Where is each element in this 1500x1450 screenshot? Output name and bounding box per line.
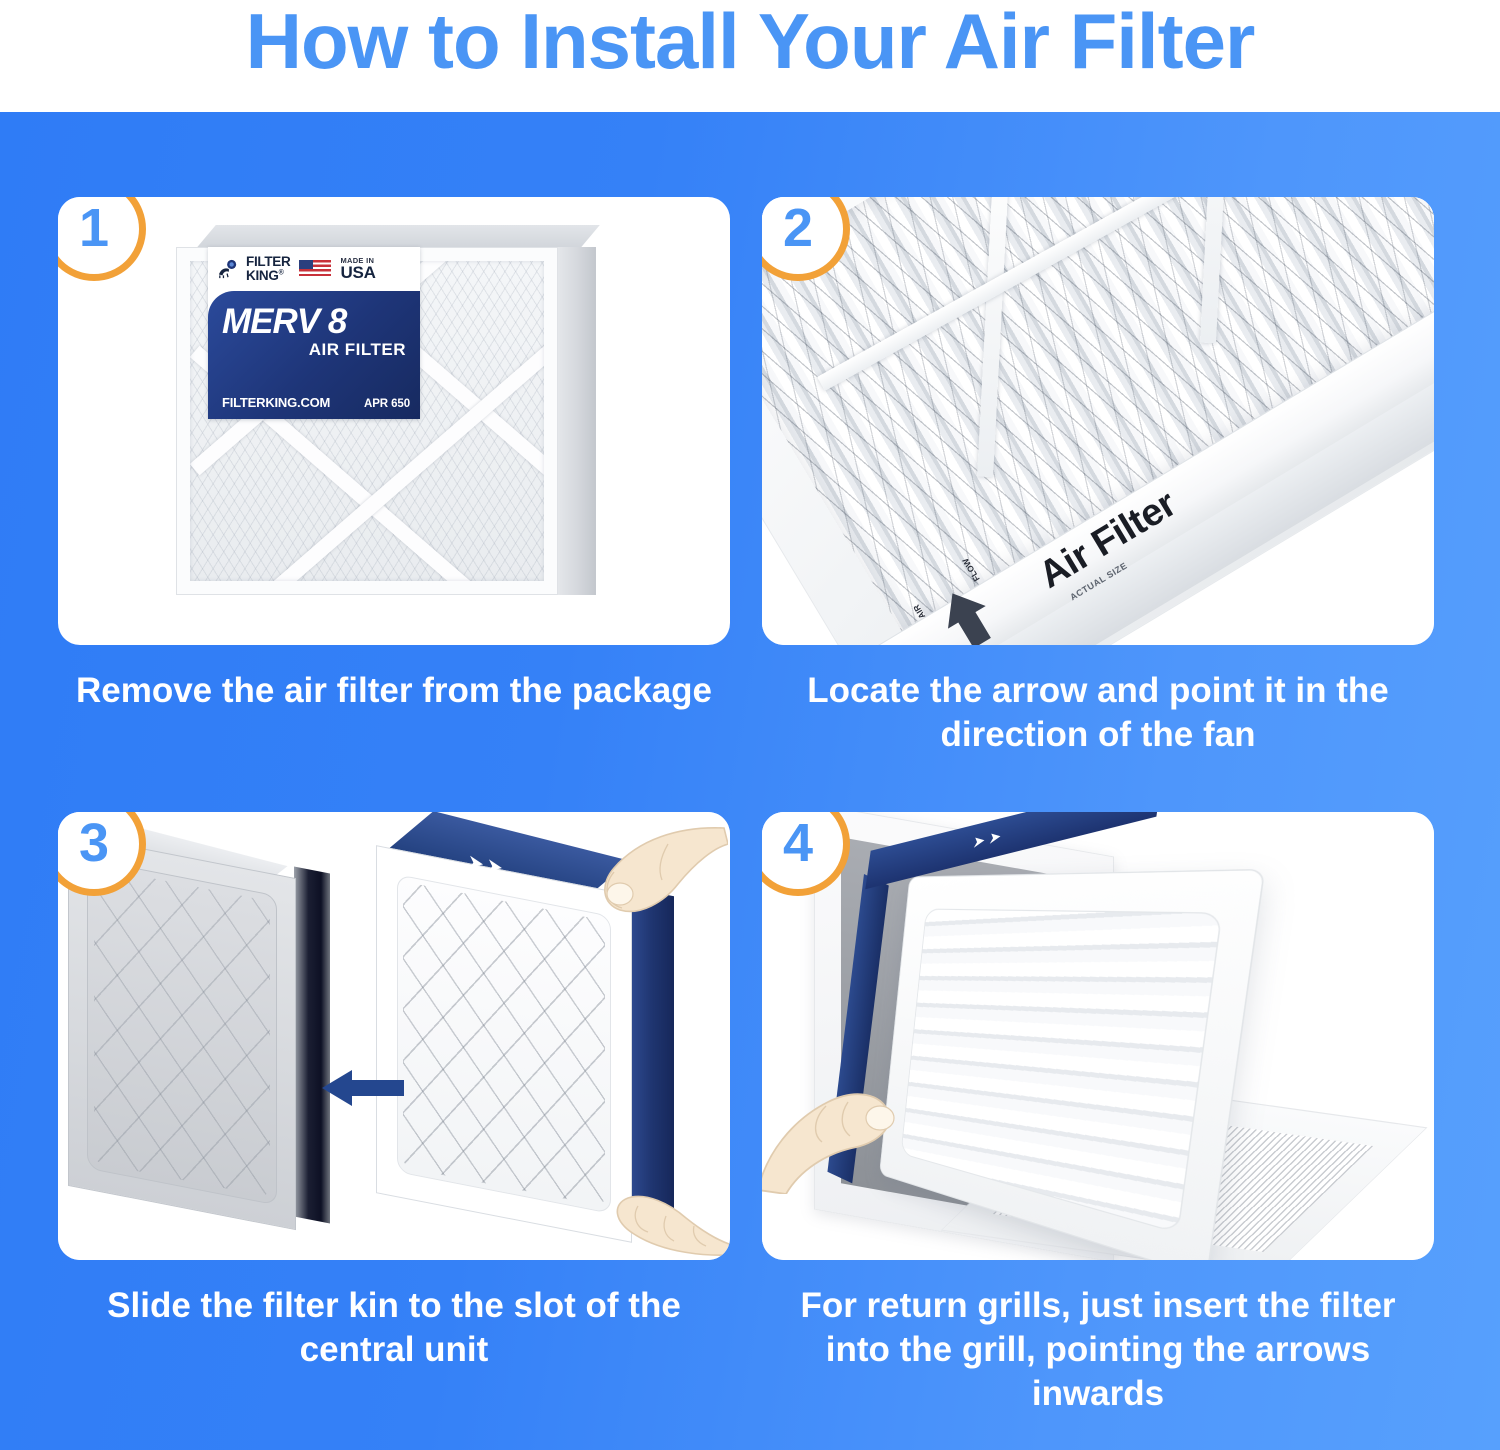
hand-icon [762,1044,974,1194]
usa-flag-icon [299,260,331,278]
step-number-1: 1 [79,201,109,255]
page-title: How to Install Your Air Filter [246,0,1255,80]
step-number-2: 2 [783,201,813,255]
step-2-caption: Locate the arrow and point it in the dir… [762,669,1434,757]
up-arrow-icon [932,580,1003,645]
step-4: ➤➤ 4 For return grills, just insert the … [762,812,1434,1415]
step-2: AIR FLOW Air Filter ACTUAL SIZE 2 Locate… [762,197,1434,757]
step-3-caption: Slide the filter kin to the slot of the … [58,1284,730,1372]
product-type: AIR FILTER [222,340,408,360]
step-4-illustration: ➤➤ [762,812,1434,1260]
step-2-illustration: AIR FLOW Air Filter ACTUAL SIZE [762,197,1434,645]
unit-inner-panel [87,859,277,1206]
hand-bottom-icon [566,1142,730,1260]
brand-website: FILTERKING.COM [222,395,330,410]
label-header-row: FILTER KING® MADE IN USA [208,247,420,291]
step-number-4: 4 [783,816,813,870]
made-in-usa: MADE IN USA [340,257,375,282]
unit-dark-slot [294,867,330,1224]
step-4-card: ➤➤ 4 [762,812,1434,1260]
unit-mesh-pattern [94,867,270,1197]
title-band: How to Install Your Air Filter [0,0,1500,112]
step-1-card: FILTER KING® MADE IN USA MERV 8 AIR F [58,197,730,645]
filter-side-depth [552,247,596,595]
apr-rating: APR 650 [364,398,410,410]
step-number-3: 3 [79,816,109,870]
slide-direction-arrow-icon [322,1068,404,1108]
brand-name: FILTER KING® [246,255,290,283]
step-4-caption: For return grills, just insert the filte… [762,1284,1434,1415]
filter-arrow-markings-icon: ➤➤ [972,825,1007,852]
step-3-illustration: ➤➤ [58,812,730,1260]
merv-rating: MERV 8 [222,305,408,338]
step-1: FILTER KING® MADE IN USA MERV 8 AIR F [58,197,730,713]
air-filter-corner-photo: AIR FLOW Air Filter ACTUAL SIZE [762,197,1434,645]
infographic-page: How to Install Your Air Filter [0,0,1500,1450]
label-blue-panel: MERV 8 AIR FILTER FILTERKING.COM APR 650 [208,291,420,419]
product-label: FILTER KING® MADE IN USA MERV 8 AIR F [208,247,420,419]
step-3: ➤➤ [58,812,730,1372]
hand-top-icon [528,824,728,950]
lion-icon [217,259,239,279]
air-filter-product: FILTER KING® MADE IN USA MERV 8 AIR F [176,225,596,617]
step-2-card: AIR FLOW Air Filter ACTUAL SIZE 2 [762,197,1434,645]
label-footer-row: FILTERKING.COM APR 650 [222,395,410,410]
step-1-illustration: FILTER KING® MADE IN USA MERV 8 AIR F [58,197,730,645]
step-1-caption: Remove the air filter from the package [58,669,730,713]
step-3-card: ➤➤ [58,812,730,1260]
